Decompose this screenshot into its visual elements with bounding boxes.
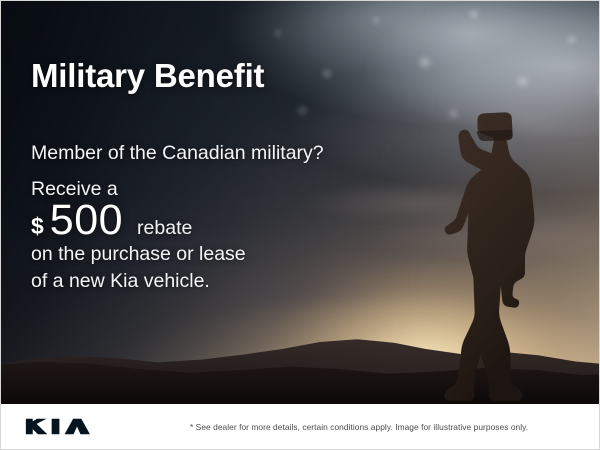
offer-terms: on the purchase or lease of a new Kia ve… <box>31 241 246 295</box>
offer-amount-group: $ 500 rebate <box>31 199 192 242</box>
eligibility-question: Member of the Canadian military? <box>31 141 324 165</box>
military-benefit-banner[interactable]: Military Benefit Member of the Canadian … <box>0 0 600 450</box>
offer-terms-line-2: of a new Kia vehicle. <box>31 268 246 295</box>
rebate-label: rebate <box>137 217 192 240</box>
rebate-amount: 500 <box>50 199 123 242</box>
disclaimer-text: * See dealer for more details, certain c… <box>190 422 528 432</box>
page-title: Military Benefit <box>31 58 264 94</box>
currency-symbol: $ <box>31 213 44 240</box>
footer-bar: * See dealer for more details, certain c… <box>1 404 600 449</box>
offer-terms-line-1: on the purchase or lease <box>31 241 246 268</box>
saluting-soldier-silhouette <box>438 109 550 401</box>
hero-image: Military Benefit Member of the Canadian … <box>1 1 600 404</box>
kia-logo-icon[interactable] <box>25 416 111 437</box>
